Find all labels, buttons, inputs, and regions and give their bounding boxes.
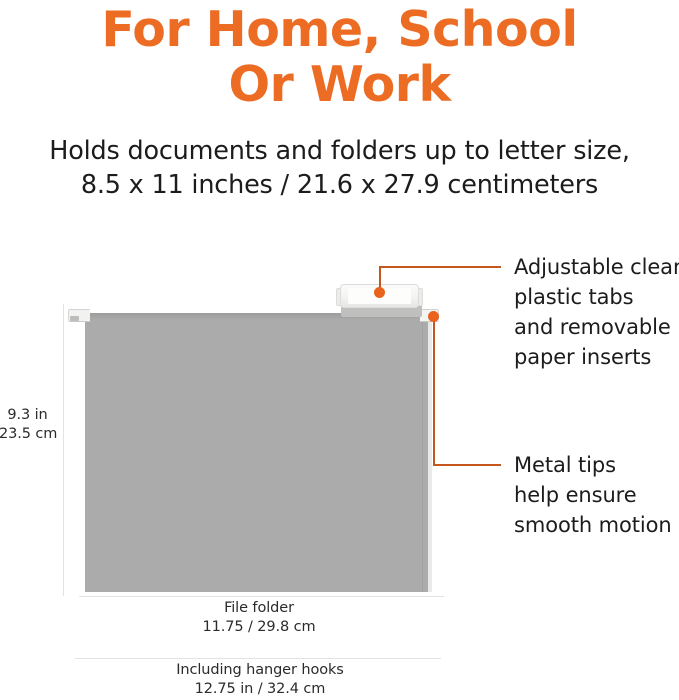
hanger-width-guide-line — [75, 658, 441, 659]
folder-width-guide-line — [79, 596, 444, 597]
callout-2-line-1: Metal tips — [514, 450, 672, 480]
dimension-label-height: 9.3 in 23.5 cm — [0, 406, 56, 444]
folder-inner-sheet — [428, 318, 432, 592]
hanger-width-title: Including hanger hooks — [135, 661, 385, 680]
callout-1-marker-dot-icon — [374, 287, 385, 298]
callout-1-leader-horizontal — [379, 266, 501, 268]
callout-2-line-3: smooth motion — [514, 510, 672, 540]
callout-1-line-4: paper inserts — [514, 342, 679, 372]
metal-hook-tip-left-nub — [70, 316, 79, 321]
callout-2-leader-vertical — [433, 315, 435, 465]
callout-1-line-1: Adjustable clear — [514, 252, 679, 282]
callout-1-line-3: and removable — [514, 312, 679, 342]
dimension-label-folder-width: File folder 11.75 / 29.8 cm — [145, 599, 373, 637]
callout-1-line-2: plastic tabs — [514, 282, 679, 312]
folder-body — [85, 313, 428, 592]
callout-2-line-2: help ensure — [514, 480, 672, 510]
height-guide-line — [63, 304, 64, 596]
height-centimeters: 23.5 cm — [0, 425, 56, 444]
folder-width-value: 11.75 / 29.8 cm — [145, 618, 373, 637]
height-inches: 9.3 in — [0, 406, 56, 425]
callout-2-marker-dot-icon — [428, 311, 439, 322]
callout-metal-tips: Metal tips help ensure smooth motion — [514, 450, 672, 540]
callout-2-leader-horizontal — [433, 464, 501, 466]
hanger-width-value: 12.75 in / 32.4 cm — [135, 680, 385, 699]
dimension-label-hanger-width: Including hanger hooks 12.75 in / 32.4 c… — [135, 661, 385, 699]
folder-width-title: File folder — [145, 599, 373, 618]
folder-seam-line — [422, 316, 423, 592]
callout-adjustable-tabs: Adjustable clear plastic tabs and remova… — [514, 252, 679, 372]
